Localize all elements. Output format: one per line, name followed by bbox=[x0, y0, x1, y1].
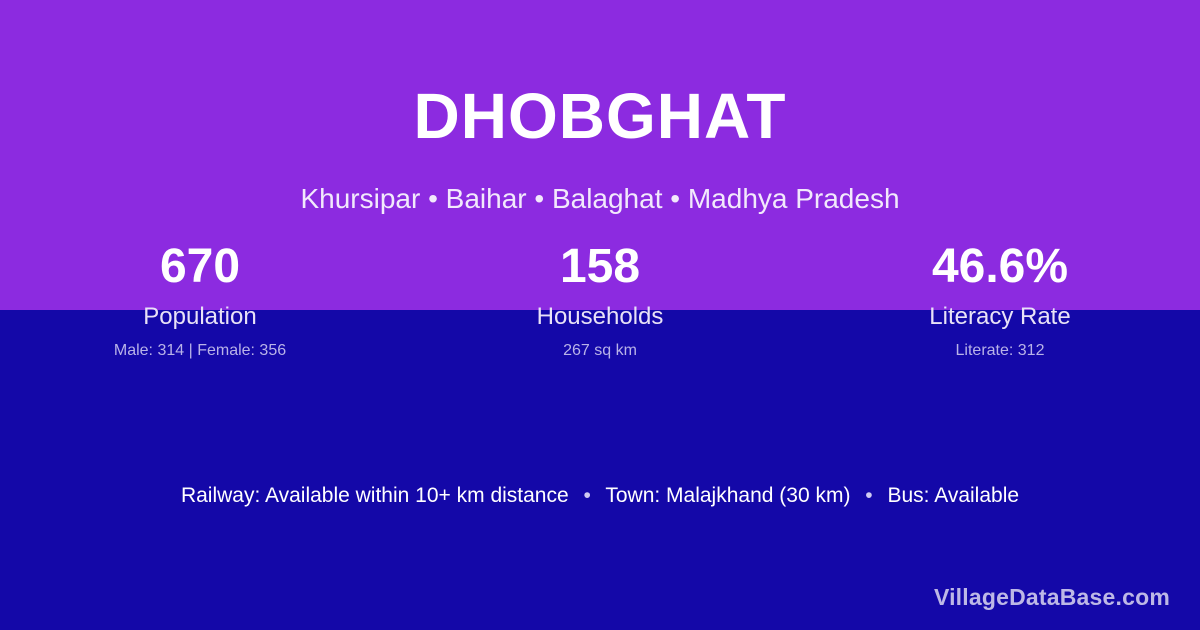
stat-households-sub: 267 sq km bbox=[400, 342, 800, 360]
stat-literacy-rate-value: 46.6% bbox=[800, 243, 1200, 297]
facility-line: Railway: Available within 10+ km distanc… bbox=[0, 482, 1200, 509]
facility-separator-1: • bbox=[575, 484, 600, 507]
stat-households-value: 158 bbox=[400, 243, 800, 297]
stat-population-sub: Male: 314 | Female: 356 bbox=[0, 342, 400, 360]
stat-households: 158 Households 267 sq km bbox=[400, 243, 800, 393]
stat-literacy-rate: 46.6% Literacy Rate Literate: 312 bbox=[800, 243, 1200, 393]
site-brand: VillageDataBase.com bbox=[934, 584, 1170, 611]
stat-households-label: Households bbox=[400, 303, 800, 332]
stat-population: 670 Population Male: 314 | Female: 356 bbox=[0, 243, 400, 393]
stat-literacy-rate-label: Literacy Rate bbox=[800, 303, 1200, 332]
stat-literacy-rate-sub: Literate: 312 bbox=[800, 342, 1200, 360]
facility-town: Town: Malajkhand (30 km) bbox=[605, 484, 850, 507]
stats-row: 670 Population Male: 314 | Female: 356 1… bbox=[0, 243, 1200, 393]
village-info-card: DHOBGHAT Khursipar • Baihar • Balaghat •… bbox=[0, 0, 1200, 630]
facility-bus: Bus: Available bbox=[888, 484, 1020, 507]
facility-railway: Railway: Available within 10+ km distanc… bbox=[181, 484, 569, 507]
facility-separator-2: • bbox=[856, 484, 881, 507]
page-title: DHOBGHAT bbox=[0, 84, 1200, 148]
stat-population-label: Population bbox=[0, 303, 400, 332]
breadcrumb: Khursipar • Baihar • Balaghat • Madhya P… bbox=[0, 182, 1200, 216]
stat-population-value: 670 bbox=[0, 243, 400, 297]
